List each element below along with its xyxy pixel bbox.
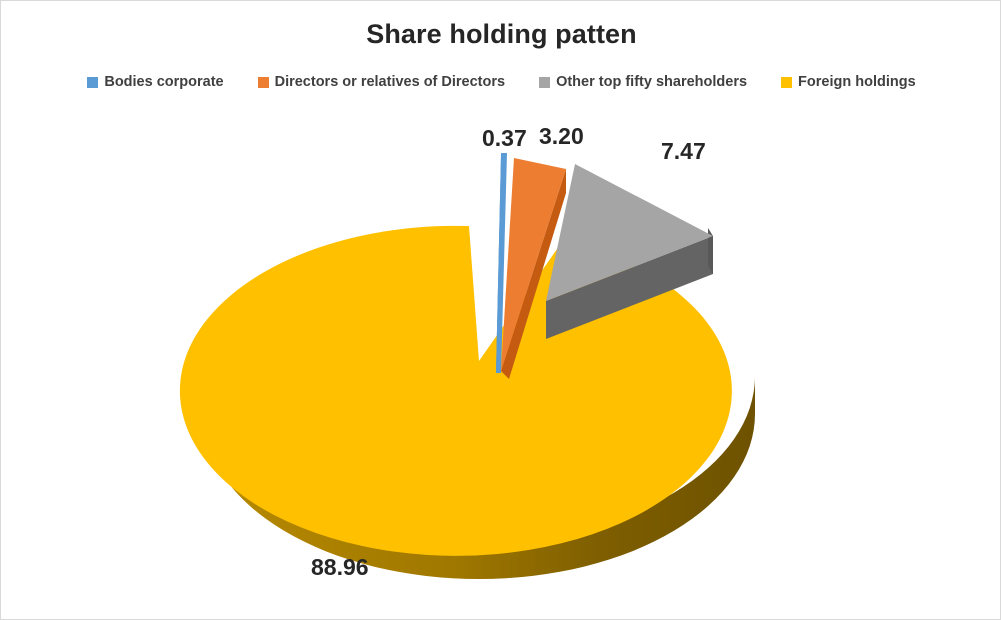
data-label-foreign-holdings: 88.96 — [311, 554, 369, 581]
data-label-other-top-fifty-shareholders: 7.47 — [661, 138, 706, 165]
data-label-bodies-corporate: 0.37 — [482, 125, 527, 152]
pie-chart-svg — [1, 1, 1001, 620]
chart-frame: Share holding patten Bodies corporate Di… — [0, 0, 1001, 620]
pie-chart-plot-area: 0.37 3.20 7.47 88.96 — [1, 1, 1001, 620]
data-label-directors-or-relatives: 3.20 — [539, 123, 584, 150]
